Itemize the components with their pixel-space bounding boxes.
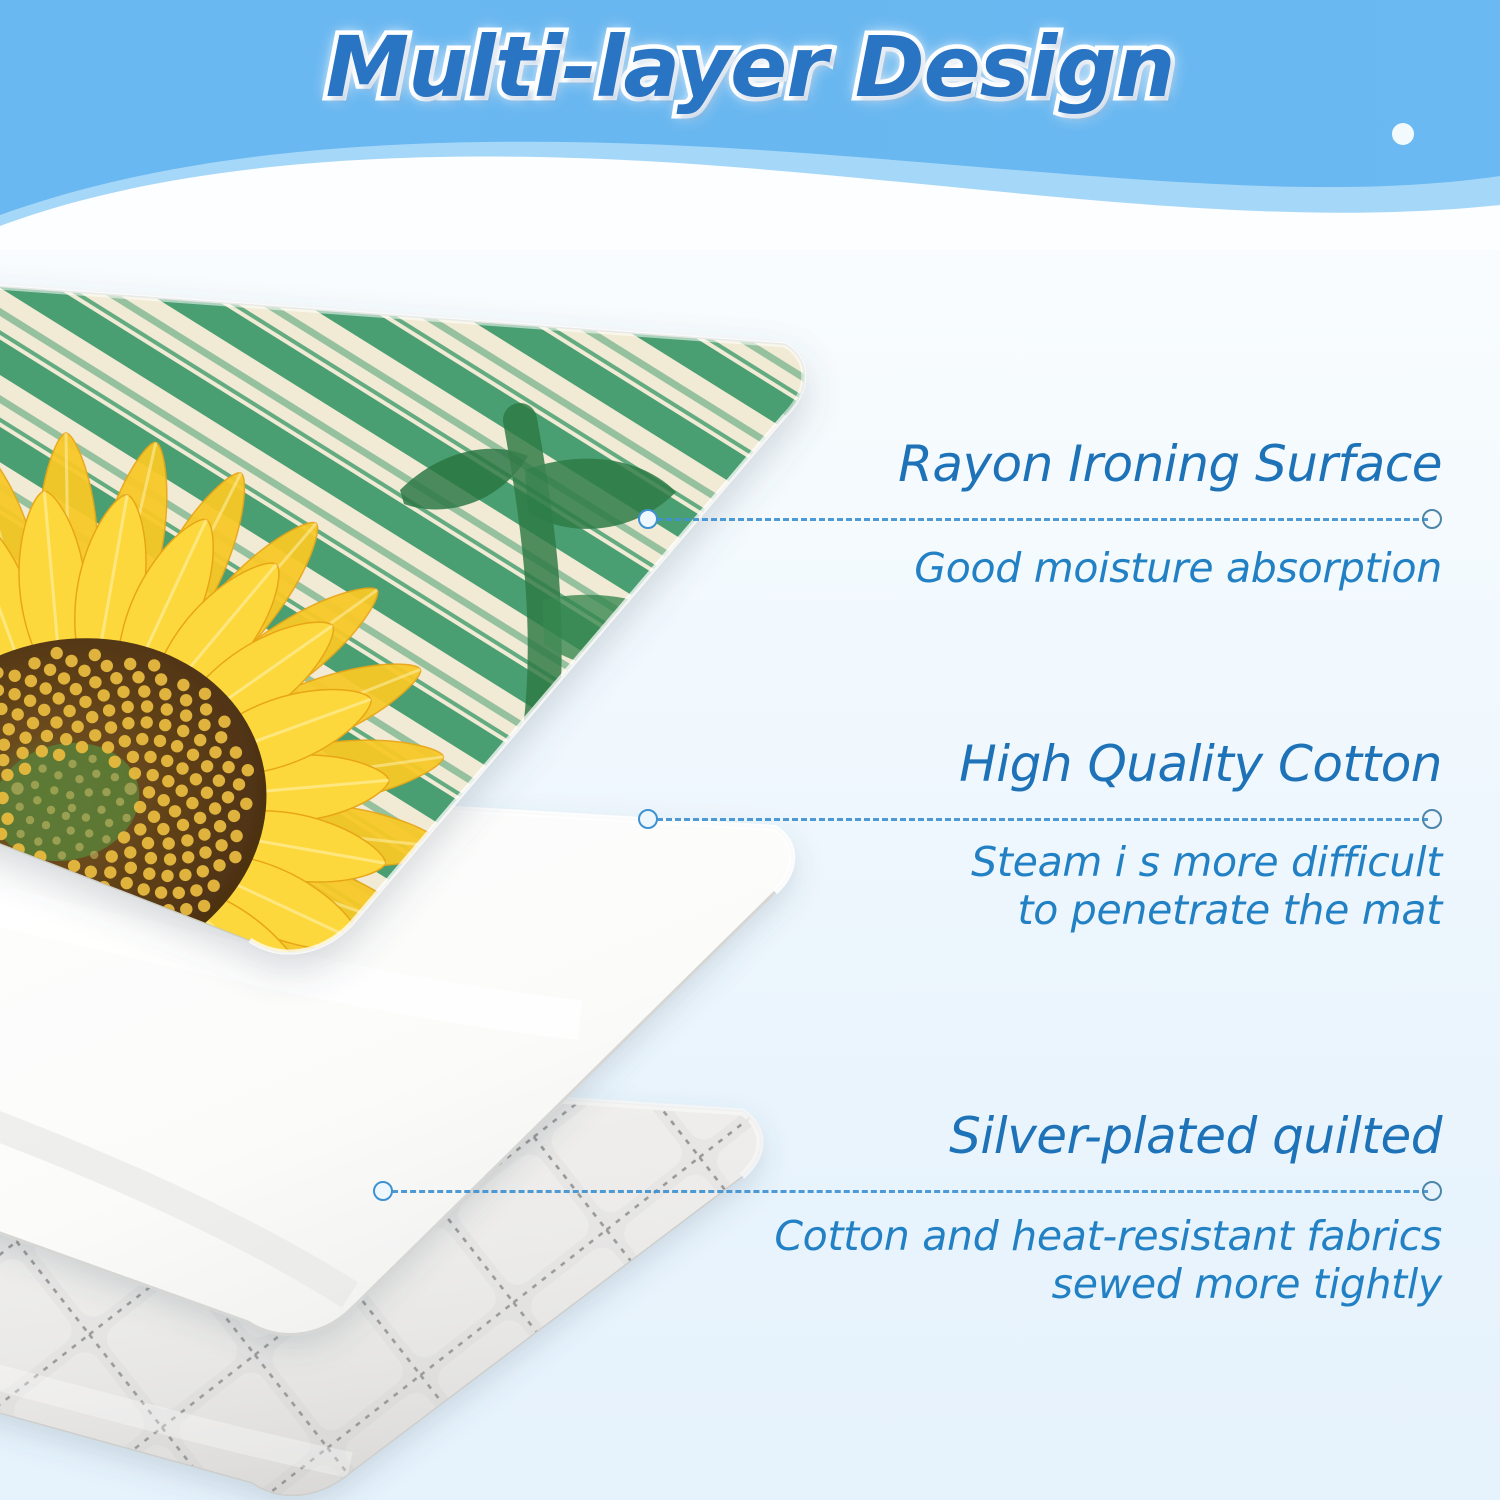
callout-title-quilted: Silver-plated quilted xyxy=(949,1110,1442,1162)
callout-anchor-dot-quilted xyxy=(373,1181,393,1201)
callout-subtitle-quilted-line1: Cotton and heat-resistant fabrics xyxy=(774,1214,1442,1260)
infographic-root: Multi-layer Design xyxy=(0,0,1500,1500)
callout-rule-quilted xyxy=(383,1190,1428,1193)
callout-subtitle-quilted-line2: sewed more tightly xyxy=(1052,1262,1442,1308)
callout-silver-plated-quilted: Silver-plated quilted Cotton and heat-re… xyxy=(0,0,1500,1500)
callout-end-dot-quilted xyxy=(1422,1181,1442,1201)
